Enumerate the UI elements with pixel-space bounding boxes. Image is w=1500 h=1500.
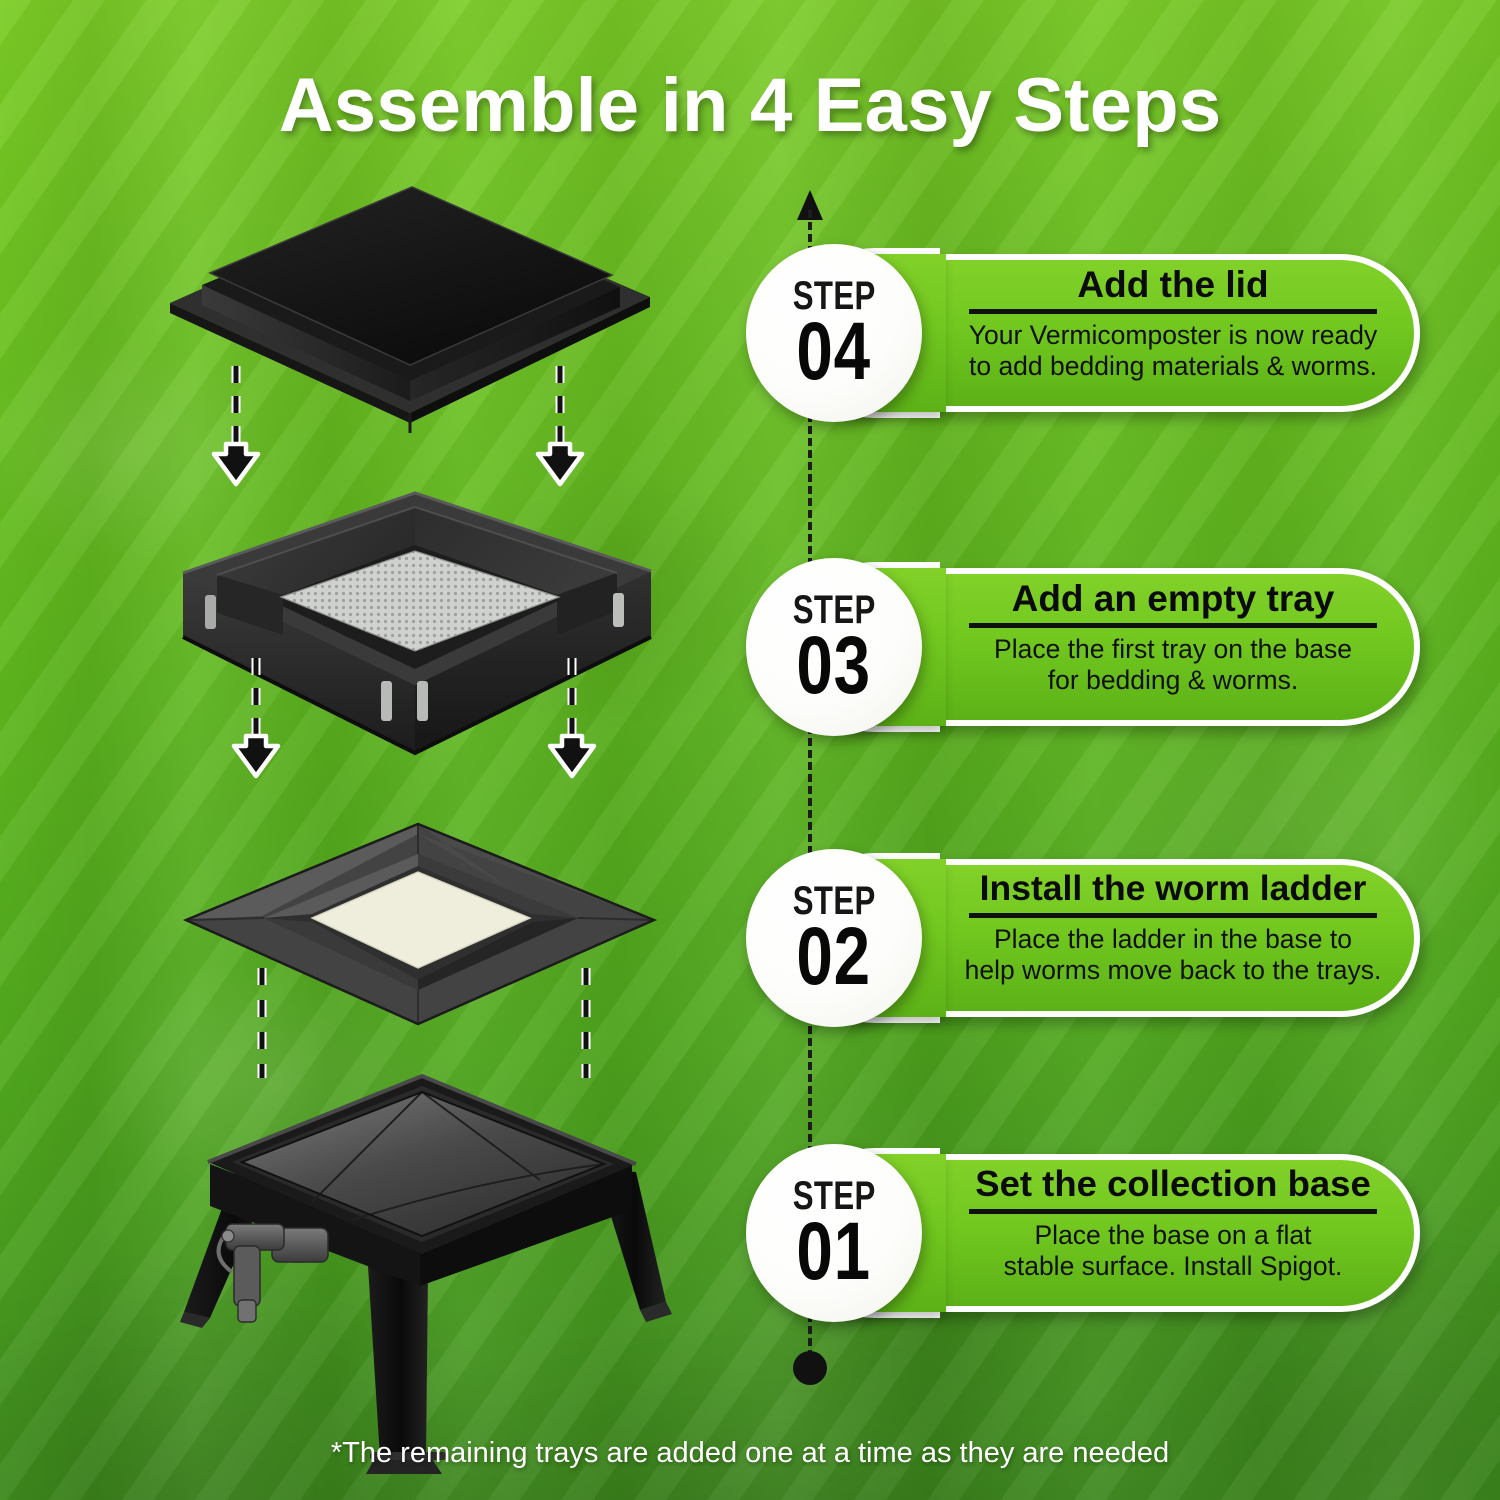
step-number-label: 04 bbox=[797, 314, 872, 389]
step-card-body: Add the lid Your Vermicomposter is now r… bbox=[936, 264, 1410, 404]
step-divider bbox=[969, 913, 1377, 918]
step-divider bbox=[969, 309, 1377, 314]
step-description-line: stable surface. Install Spigot. bbox=[936, 1251, 1410, 1282]
step-number-label: 01 bbox=[797, 1214, 872, 1289]
step-heading: Set the collection base bbox=[936, 1166, 1410, 1203]
step-description-line: Place the ladder in the base to bbox=[936, 924, 1410, 955]
step-card-04[interactable]: STEP 04 Add the lid Your Vermicomposter … bbox=[740, 248, 1420, 420]
step-card-02[interactable]: STEP 02 Install the worm ladder Place th… bbox=[740, 853, 1420, 1025]
page-title: Assemble in 4 Easy Steps bbox=[0, 62, 1500, 149]
step-card-body: Set the collection base Place the base o… bbox=[936, 1164, 1410, 1304]
step-heading: Add the lid bbox=[936, 266, 1410, 303]
step-card-body: Install the worm ladder Place the ladder… bbox=[936, 869, 1410, 1009]
step-description: Your Vermicomposter is now ready to add … bbox=[936, 320, 1410, 382]
step-description-line: to add bedding materials & worms. bbox=[936, 351, 1410, 382]
step-heading: Add an empty tray bbox=[936, 580, 1410, 617]
step-description: Place the base on a flat stable surface.… bbox=[936, 1220, 1410, 1282]
step-divider bbox=[969, 1209, 1377, 1214]
step-card-01[interactable]: STEP 01 Set the collection base Place th… bbox=[740, 1148, 1420, 1320]
step-description-line: Place the first tray on the base bbox=[936, 634, 1410, 665]
step-divider bbox=[969, 623, 1377, 628]
step-description-line: help worms move back to the trays. bbox=[936, 955, 1410, 986]
step-number-label: 02 bbox=[797, 919, 872, 994]
step-badge-01[interactable]: STEP 01 bbox=[746, 1144, 922, 1322]
step-badge-04[interactable]: STEP 04 bbox=[746, 244, 922, 422]
infographic-poster: Assemble in 4 Easy Steps bbox=[0, 0, 1500, 1500]
assembly-arrow-down-icon bbox=[520, 358, 600, 490]
step-badge-03[interactable]: STEP 03 bbox=[746, 558, 922, 736]
step-description-line: Your Vermicomposter is now ready bbox=[936, 320, 1410, 351]
assembly-arrow-down-icon bbox=[196, 358, 276, 490]
step-description-line: for bedding & worms. bbox=[936, 665, 1410, 696]
step-description: Place the first tray on the base for bed… bbox=[936, 634, 1410, 696]
step-heading: Install the worm ladder bbox=[936, 871, 1410, 907]
step-card-body: Add an empty tray Place the first tray o… bbox=[936, 578, 1410, 718]
step-description: Place the ladder in the base to help wor… bbox=[936, 924, 1410, 986]
step-number-label: 03 bbox=[797, 628, 872, 703]
assembly-arrow-down-icon bbox=[216, 650, 296, 782]
step-description-line: Place the base on a flat bbox=[936, 1220, 1410, 1251]
step-card-03[interactable]: STEP 03 Add an empty tray Place the firs… bbox=[740, 562, 1420, 734]
step-badge-02[interactable]: STEP 02 bbox=[746, 849, 922, 1027]
assembly-arrow-down-icon bbox=[532, 650, 612, 782]
timeline-end-dot bbox=[793, 1351, 827, 1385]
footnote: *The remaining trays are added one at a … bbox=[0, 1437, 1500, 1470]
illustration-collection-base bbox=[180, 1060, 700, 1480]
